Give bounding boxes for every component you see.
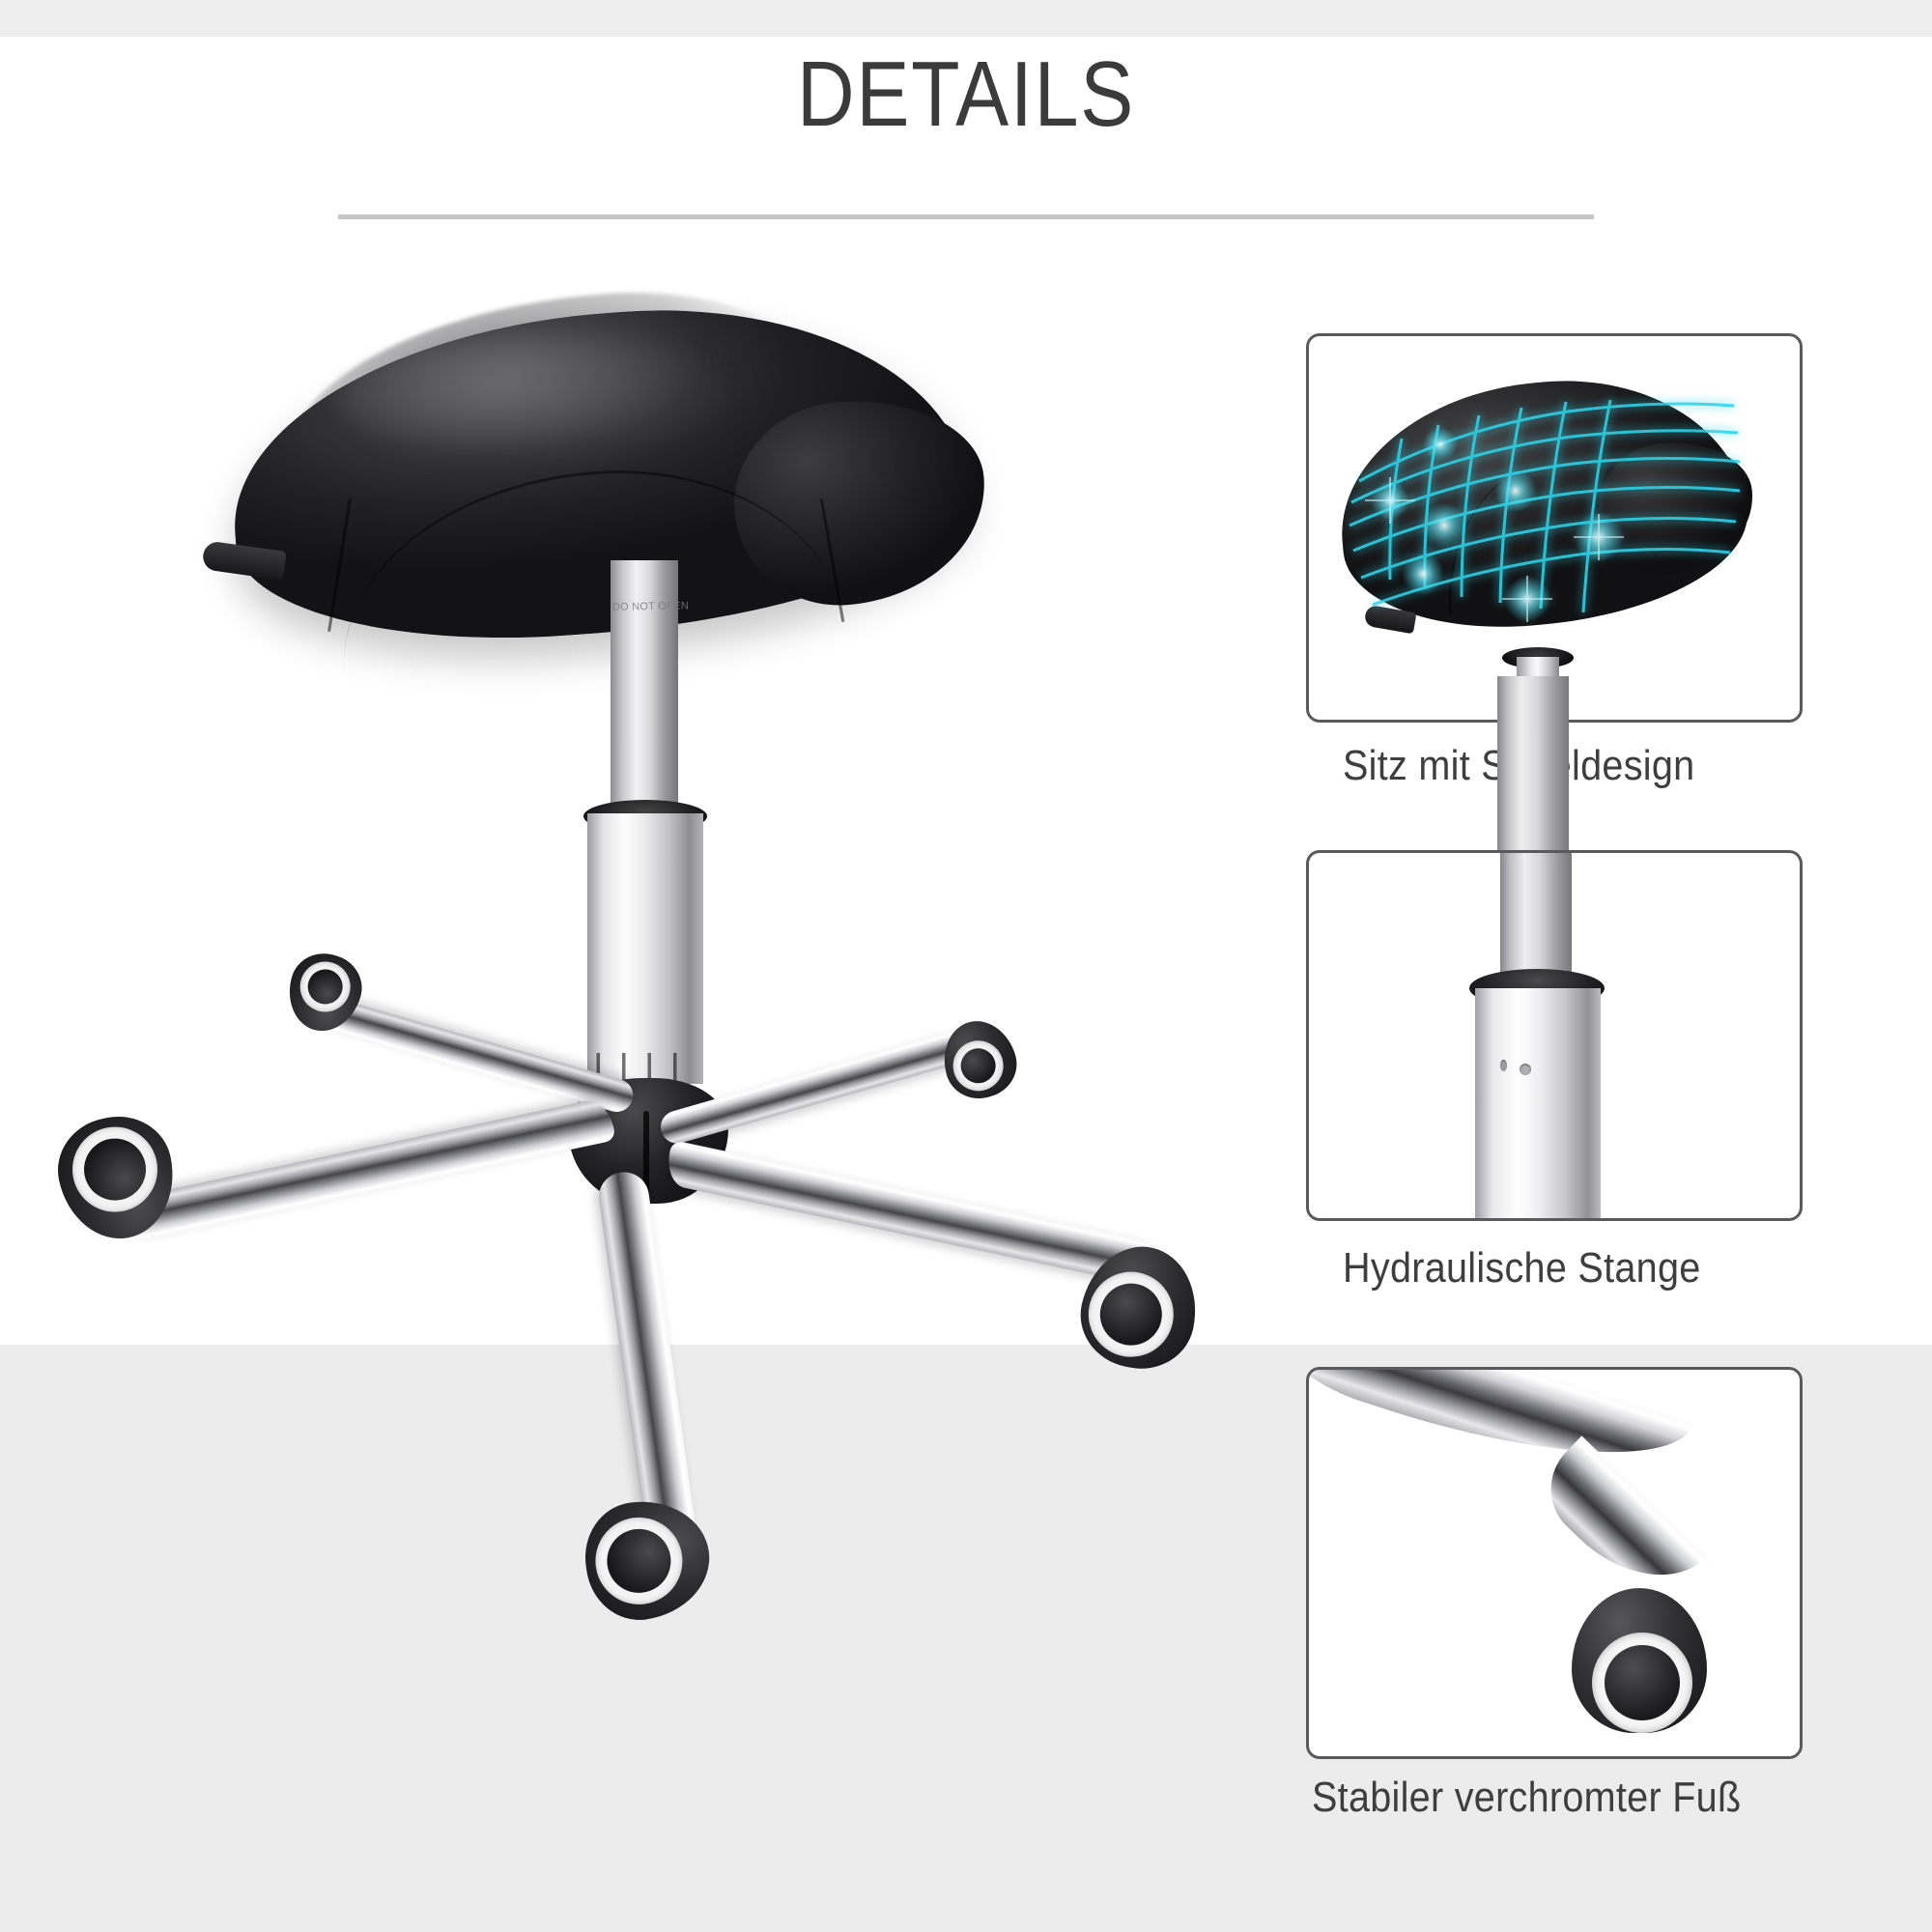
product-detail-page: DETAILS DO NOT OPEN [0, 0, 1932, 1932]
gas-spring-rod [611, 560, 678, 811]
caption-chrome-base: Stabiler verchromter Fuß [1312, 1774, 1741, 1822]
leg-arm [657, 1028, 973, 1148]
saddle-seat [193, 256, 1005, 662]
ergonomic-grid-overlay-icon [1309, 336, 1800, 720]
page-title: DETAILS [135, 46, 1797, 144]
panel-base-arm-tip [1529, 1435, 1707, 1610]
leg-arm [126, 1096, 616, 1242]
top-background-band [0, 0, 1932, 37]
gas-spring-warning-label: DO NOT OPEN [612, 600, 690, 614]
detail-panel-chrome-base[interactable] [1306, 1367, 1803, 1759]
panel-cylinder-pin-right [1520, 1064, 1531, 1075]
detail-panel-saddle-seat[interactable] [1306, 333, 1803, 723]
panel-rod-overflow-shaft [1497, 676, 1569, 855]
panel-base-arm [1306, 1367, 1693, 1501]
seat-specular-highlight [338, 333, 744, 469]
hero-product-image: DO NOT OPEN [19, 241, 1236, 1430]
panel-gas-spring-cylinder [1475, 988, 1601, 1221]
caption-hydraulic-rod: Hydraulische Stange [1343, 1244, 1701, 1293]
detail-panel-hydraulic-rod[interactable] [1306, 850, 1803, 1221]
panel-gas-spring-rod [1500, 850, 1572, 982]
panel-cylinder-pin-left [1500, 1060, 1507, 1071]
leg-arm [663, 1140, 1153, 1286]
gas-spring-cylinder [587, 813, 703, 1084]
title-divider [338, 214, 1594, 219]
panel-caster-hub [1605, 1645, 1680, 1720]
